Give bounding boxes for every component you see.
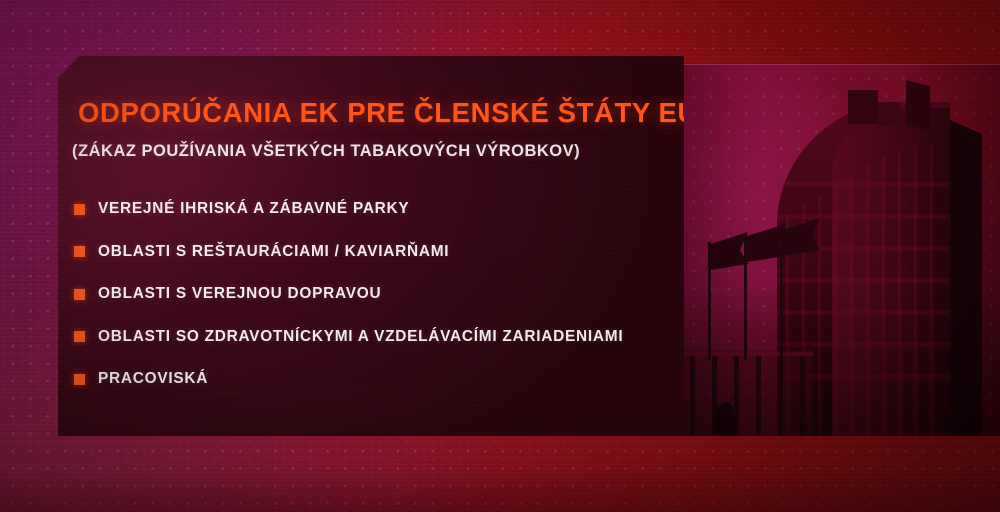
page-subtitle: (ZÁKAZ POUŽÍVANIA VŠETKÝCH TABAKOVÝCH VÝ… <box>72 142 580 161</box>
bullet-square-icon <box>74 374 85 385</box>
list-item-label: PRACOVISKÁ <box>98 370 208 388</box>
european-parliament-building-photo <box>682 64 1000 436</box>
list-item: OBLASTI SO ZDRAVOTNÍCKYMI A VZDELÁVACÍMI… <box>74 326 674 348</box>
list-item-label: OBLASTI S VEREJNOU DOPRAVOU <box>98 285 381 303</box>
bullet-square-icon <box>74 289 85 300</box>
bullet-square-icon <box>74 204 85 215</box>
page-title: ODPORÚČANIA EK PRE ČLENSKÉ ŠTÁTY EÚ <box>78 97 698 129</box>
list-item-label: OBLASTI SO ZDRAVOTNÍCKYMI A VZDELÁVACÍMI… <box>98 328 623 346</box>
recommendation-list: VEREJNÉ IHRISKÁ A ZÁBAVNÉ PARKY OBLASTI … <box>74 198 674 411</box>
content-panel: ODPORÚČANIA EK PRE ČLENSKÉ ŠTÁTY EÚ (ZÁK… <box>58 56 684 436</box>
photo-red-tint <box>682 64 1000 436</box>
list-item: VEREJNÉ IHRISKÁ A ZÁBAVNÉ PARKY <box>74 198 674 220</box>
slide-graphic: ODPORÚČANIA EK PRE ČLENSKÉ ŠTÁTY EÚ (ZÁK… <box>0 0 1000 512</box>
bottom-shadow <box>0 466 1000 512</box>
photo-top-edge <box>682 64 1000 65</box>
list-item: OBLASTI S REŠTAURÁCIAMI / KAVIARŇAMI <box>74 241 674 263</box>
list-item: PRACOVISKÁ <box>74 368 674 390</box>
panel-content: ODPORÚČANIA EK PRE ČLENSKÉ ŠTÁTY EÚ (ZÁK… <box>58 56 684 436</box>
list-item-label: OBLASTI S REŠTAURÁCIAMI / KAVIARŇAMI <box>98 243 449 261</box>
bullet-square-icon <box>74 246 85 257</box>
list-item-label: VEREJNÉ IHRISKÁ A ZÁBAVNÉ PARKY <box>98 200 409 218</box>
list-item: OBLASTI S VEREJNOU DOPRAVOU <box>74 283 674 305</box>
bullet-square-icon <box>74 331 85 342</box>
